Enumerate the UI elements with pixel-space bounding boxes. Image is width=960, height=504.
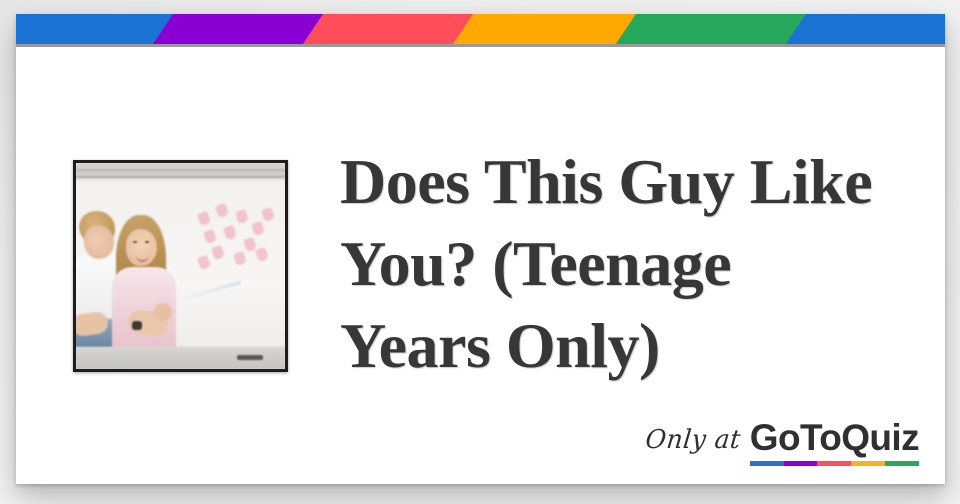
gotoquiz-wordmark: GoToQuiz [750, 419, 919, 456]
top-color-band [16, 14, 945, 44]
quiz-thumbnail [73, 160, 288, 372]
band-segment-blue [16, 14, 173, 44]
whiteboard-marker [237, 355, 263, 360]
gotoquiz-logo[interactable]: Only at GoToQuiz [645, 419, 919, 466]
logo-bar-purple [784, 461, 818, 466]
girl-hands [154, 303, 172, 321]
wordmark-wrap: GoToQuiz [750, 419, 919, 466]
whiteboard-rail [76, 169, 285, 178]
band-segment-purple [153, 14, 323, 44]
quiz-title-card: Does This Guy Like You? (Teenage Years O… [16, 14, 945, 484]
band-segment-blue-2 [786, 14, 945, 44]
band-segment-orange [453, 14, 636, 44]
logo-bar-blue [750, 461, 784, 466]
page-title: Does This Guy Like You? (Teenage Years O… [340, 141, 930, 387]
band-segment-green [616, 14, 806, 44]
logo-bar-red [817, 461, 851, 466]
title-line-3: Years Only) [340, 310, 660, 381]
whiteboard-trail [173, 281, 241, 302]
title-line-2: You? (Teenage [340, 228, 731, 299]
girl-eye-left [133, 241, 137, 243]
band-segment-red [303, 14, 473, 44]
title-line-1: Does This Guy Like [340, 146, 872, 217]
heart-cluster [195, 205, 279, 273]
logo-color-bar [750, 461, 919, 466]
only-at-label: Only at [642, 424, 742, 467]
logo-bar-yellow [851, 461, 885, 466]
thumbnail-photo [76, 163, 285, 369]
boy-face [84, 225, 114, 259]
band-underline [16, 44, 945, 47]
girl-wristwatch [132, 321, 142, 330]
logo-bar-green [885, 461, 919, 466]
girl-eye-right [145, 241, 149, 243]
